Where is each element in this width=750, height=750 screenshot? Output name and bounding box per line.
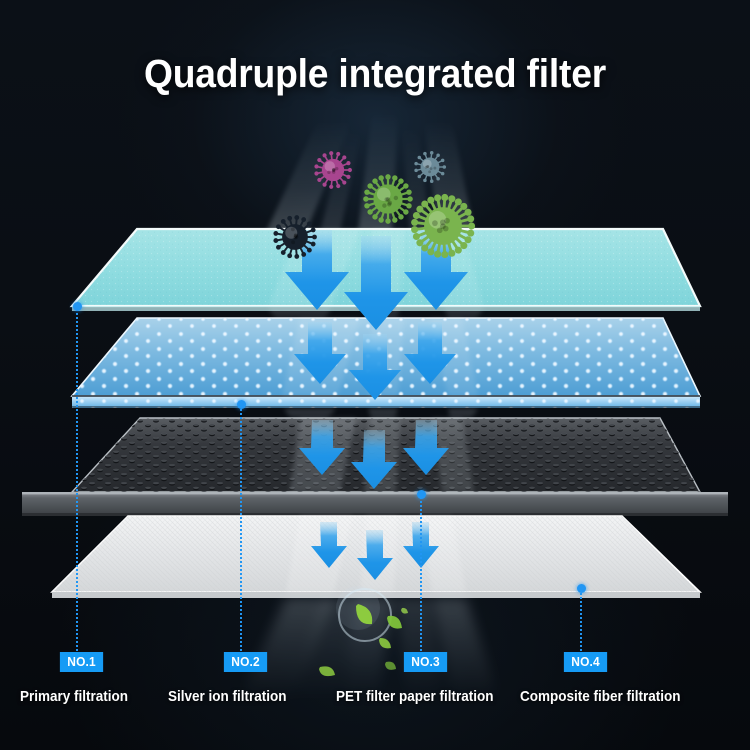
badge-no2[interactable]: NO.2 — [224, 652, 267, 672]
caption-composite-fiber: Composite fiber filtration — [520, 688, 681, 705]
badge-no1[interactable]: NO.1 — [60, 652, 103, 672]
caption-silver-ion-filtration: Silver ion filtration — [168, 688, 287, 705]
filter-stack-illustration — [0, 0, 750, 750]
caption-pet-filter-paper: PET filter paper filtration — [336, 688, 494, 705]
badge-no3[interactable]: NO.3 — [404, 652, 447, 672]
leader-line-3 — [420, 494, 422, 651]
leader-line-2 — [240, 404, 242, 651]
leader-line-1 — [76, 306, 78, 651]
leader-dot-2 — [237, 400, 246, 409]
leader-line-4 — [580, 588, 582, 651]
leader-dot-3 — [417, 490, 426, 499]
badge-no4[interactable]: NO.4 — [564, 652, 607, 672]
caption-primary-filtration: Primary filtration — [20, 688, 128, 705]
infographic-canvas: Quadruple integrated filter — [0, 0, 750, 750]
leader-dot-1 — [73, 302, 82, 311]
leader-dot-4 — [577, 584, 586, 593]
